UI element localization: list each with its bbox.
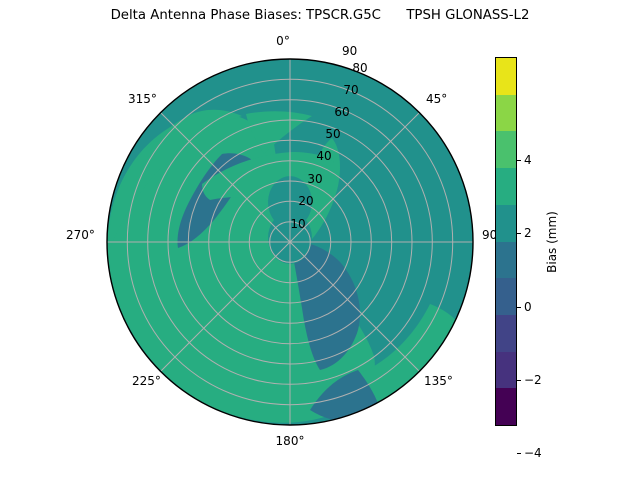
colorbar-tick-label-4: 4 bbox=[524, 153, 532, 167]
colorbar-band-0 bbox=[496, 58, 516, 95]
r-tick-label-60: 60 bbox=[334, 105, 349, 119]
colorbar-band-1 bbox=[496, 95, 516, 132]
colorbar-band-8 bbox=[496, 352, 516, 389]
polar-plot-svg: 10 20 30 40 50 60 70 80 bbox=[106, 58, 474, 426]
r-tick-label-10: 10 bbox=[290, 217, 305, 231]
theta-tick-label-45: 45° bbox=[426, 92, 447, 106]
colorbar-tick-mark-neg2 bbox=[517, 380, 521, 381]
r-tick-label-90: 90 bbox=[342, 44, 357, 58]
colorbar-axis-label: Bias (mm) bbox=[545, 211, 559, 273]
theta-tick-label-270: 270° bbox=[66, 228, 95, 242]
colorbar-tick-mark-4 bbox=[517, 160, 521, 161]
theta-tick-label-180: 180° bbox=[276, 434, 305, 448]
colorbar-band-6 bbox=[496, 278, 516, 315]
colorbar-tick-mark-neg4 bbox=[517, 453, 521, 454]
polar-axes: 10 20 30 40 50 60 70 80 90 0° 45° 90 135… bbox=[106, 58, 474, 426]
r-tick-label-30: 30 bbox=[307, 172, 322, 186]
theta-tick-label-315: 315° bbox=[128, 92, 157, 106]
theta-tick-label-135: 135° bbox=[424, 374, 453, 388]
colorbar-band-5 bbox=[496, 242, 516, 279]
r-tick-label-70: 70 bbox=[343, 83, 358, 97]
colorbar-tick-label-2: 2 bbox=[524, 226, 532, 240]
colorbar-gradient-strip bbox=[495, 57, 517, 426]
theta-tick-label-0: 0° bbox=[276, 34, 290, 48]
colorbar-band-3 bbox=[496, 168, 516, 205]
polar-grid-spokes bbox=[107, 59, 473, 425]
r-tick-label-50: 50 bbox=[325, 127, 340, 141]
colorbar-tick-label-0: 0 bbox=[524, 300, 532, 314]
theta-tick-label-225: 225° bbox=[132, 374, 161, 388]
figure-canvas: Delta Antenna Phase Biases: TPSCR.G5C TP… bbox=[0, 0, 640, 480]
colorbar-tick-label-neg4: −4 bbox=[524, 446, 542, 460]
r-tick-label-20: 20 bbox=[298, 194, 313, 208]
figure-title: Delta Antenna Phase Biases: TPSCR.G5C TP… bbox=[0, 8, 640, 23]
colorbar-tick-label-neg2: −2 bbox=[524, 373, 542, 387]
colorbar-band-4 bbox=[496, 205, 516, 242]
colorbar-band-7 bbox=[496, 315, 516, 352]
colorbar-tick-mark-2 bbox=[517, 233, 521, 234]
colorbar-tick-mark-0 bbox=[517, 307, 521, 308]
colorbar-band-2 bbox=[496, 131, 516, 168]
colorbar-band-9 bbox=[496, 388, 516, 425]
colorbar: 4 2 0 −2 −4 bbox=[495, 57, 517, 426]
r-tick-label-40: 40 bbox=[316, 149, 331, 163]
r-tick-label-80: 80 bbox=[352, 61, 367, 75]
